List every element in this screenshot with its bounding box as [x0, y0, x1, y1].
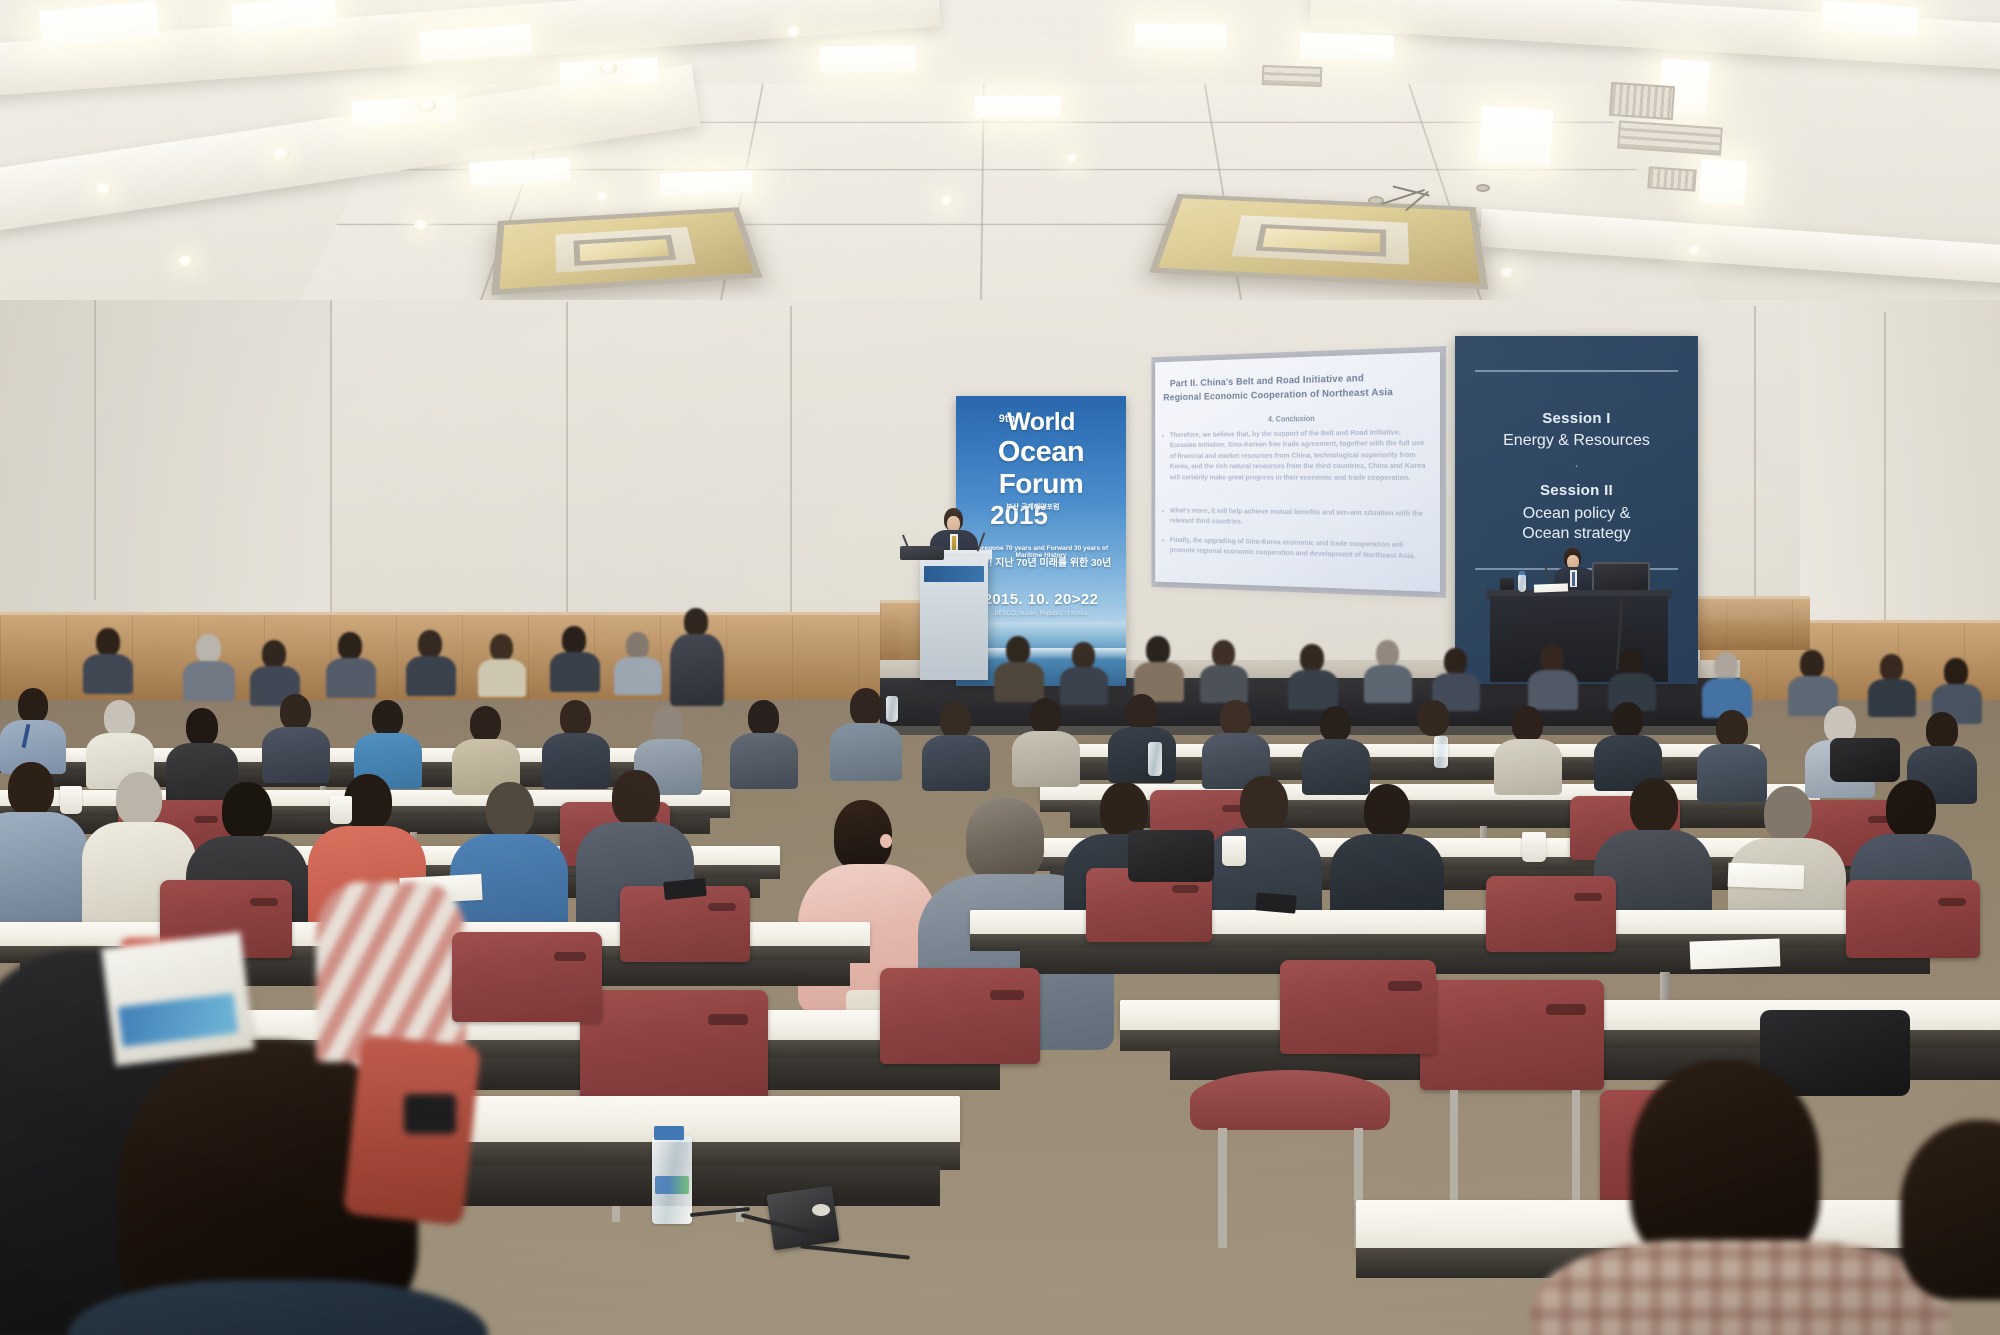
- recessed-downlight: [178, 256, 193, 267]
- water-bottle: [1148, 742, 1162, 776]
- ceiling-light-troffer: [1478, 106, 1554, 167]
- mobile-phone: [1255, 892, 1296, 913]
- recessed-downlight: [272, 148, 290, 161]
- hvac-vent-icon: [1262, 65, 1323, 87]
- slide-bullet-3: Finally, the upgrading of Sino-Korea eco…: [1170, 534, 1427, 562]
- recessed-downlight: [940, 196, 953, 206]
- lectern-logo: World Ocean Forum 2015: [924, 566, 984, 582]
- handout-paper: [1690, 938, 1781, 969]
- banner-year-suffix: 부산 국제해양포럼: [1006, 504, 1096, 513]
- slide-bullet-marker: •: [1162, 432, 1165, 441]
- slide-bullet-marker: •: [1162, 507, 1165, 516]
- panel-divider-top: [1475, 370, 1678, 372]
- water-bottle: [1518, 574, 1526, 592]
- recessed-downlight: [95, 183, 112, 195]
- recessed-downlight: [1066, 154, 1079, 164]
- ceiling-light-troffer: [820, 45, 916, 73]
- hvac-vent-icon: [1609, 82, 1675, 120]
- slide-bullet-2: What's more, it will help achieve mutual…: [1170, 505, 1427, 530]
- session-2-topic-line1: Ocean policy &: [1455, 505, 1698, 524]
- ceiling-speaker-icon: [1368, 196, 1384, 205]
- bottle-label: [655, 1176, 689, 1194]
- paper-cup: [1522, 832, 1546, 862]
- panel-nameplate: [1500, 578, 1514, 590]
- recessed-downlight: [1500, 268, 1514, 278]
- recessed-downlight: [596, 192, 610, 202]
- lectern: World Ocean Forum 2015: [920, 556, 988, 680]
- ceiling-light-troffer: [1300, 32, 1395, 61]
- recessed-downlight: [414, 220, 429, 231]
- recessed-downlight: [600, 62, 617, 74]
- slide-bullet-marker: •: [1162, 536, 1165, 545]
- panel-separator-dot: ·: [1455, 458, 1698, 473]
- handout-paper: [1728, 863, 1805, 890]
- slide-section-heading: 4. Conclusion: [1155, 412, 1440, 425]
- podium-laptop: [900, 546, 944, 560]
- slide-bullet-1: Therefore, we believe that, by the suppo…: [1170, 426, 1427, 483]
- conference-hall-photo: 9th World Ocean Forum 2015 부산 국제해양포럼 For…: [0, 0, 2000, 1335]
- banner-line-forum: Forum: [956, 470, 1126, 498]
- paper-cup: [330, 796, 352, 824]
- translation-receiver: [766, 1186, 839, 1251]
- panel-papers: [1534, 583, 1568, 592]
- ceiling-light-troffer: [1699, 158, 1748, 205]
- backpack-buckle: [404, 1094, 456, 1134]
- stage-edge: [880, 726, 1740, 735]
- paper-cup: [60, 786, 82, 814]
- hvac-vent-icon: [1647, 166, 1696, 191]
- hvac-vent-icon: [1617, 120, 1723, 155]
- ceiling-light-troffer: [975, 96, 1061, 118]
- bottle-cap: [1519, 571, 1525, 575]
- bag: [1128, 830, 1214, 882]
- handbag: [1830, 738, 1900, 782]
- banner-line-world: World: [956, 410, 1126, 435]
- session-2-topic-line2: Ocean strategy: [1455, 525, 1698, 544]
- session-2-label: Session II: [1455, 482, 1698, 500]
- bottle-cap: [654, 1126, 684, 1140]
- projection-screen: Part II. China's Belt and Road Initiativ…: [1155, 352, 1440, 592]
- recessed-downlight: [418, 99, 436, 112]
- ceiling-light-troffer: [660, 170, 753, 195]
- water-bottle: [1434, 736, 1448, 768]
- ceiling-speaker-icon: [1476, 184, 1490, 192]
- recessed-downlight: [1688, 246, 1701, 256]
- ceiling-light-troffer: [1135, 23, 1227, 49]
- water-bottle: [886, 696, 898, 722]
- paper-cup: [1222, 836, 1246, 866]
- banner-line-ocean: Ocean: [956, 438, 1126, 467]
- recessed-downlight: [786, 26, 802, 38]
- session-1-topic: Energy & Resources: [1455, 432, 1698, 451]
- session-1-label: Session I: [1455, 410, 1698, 428]
- receiver-button: [812, 1204, 830, 1216]
